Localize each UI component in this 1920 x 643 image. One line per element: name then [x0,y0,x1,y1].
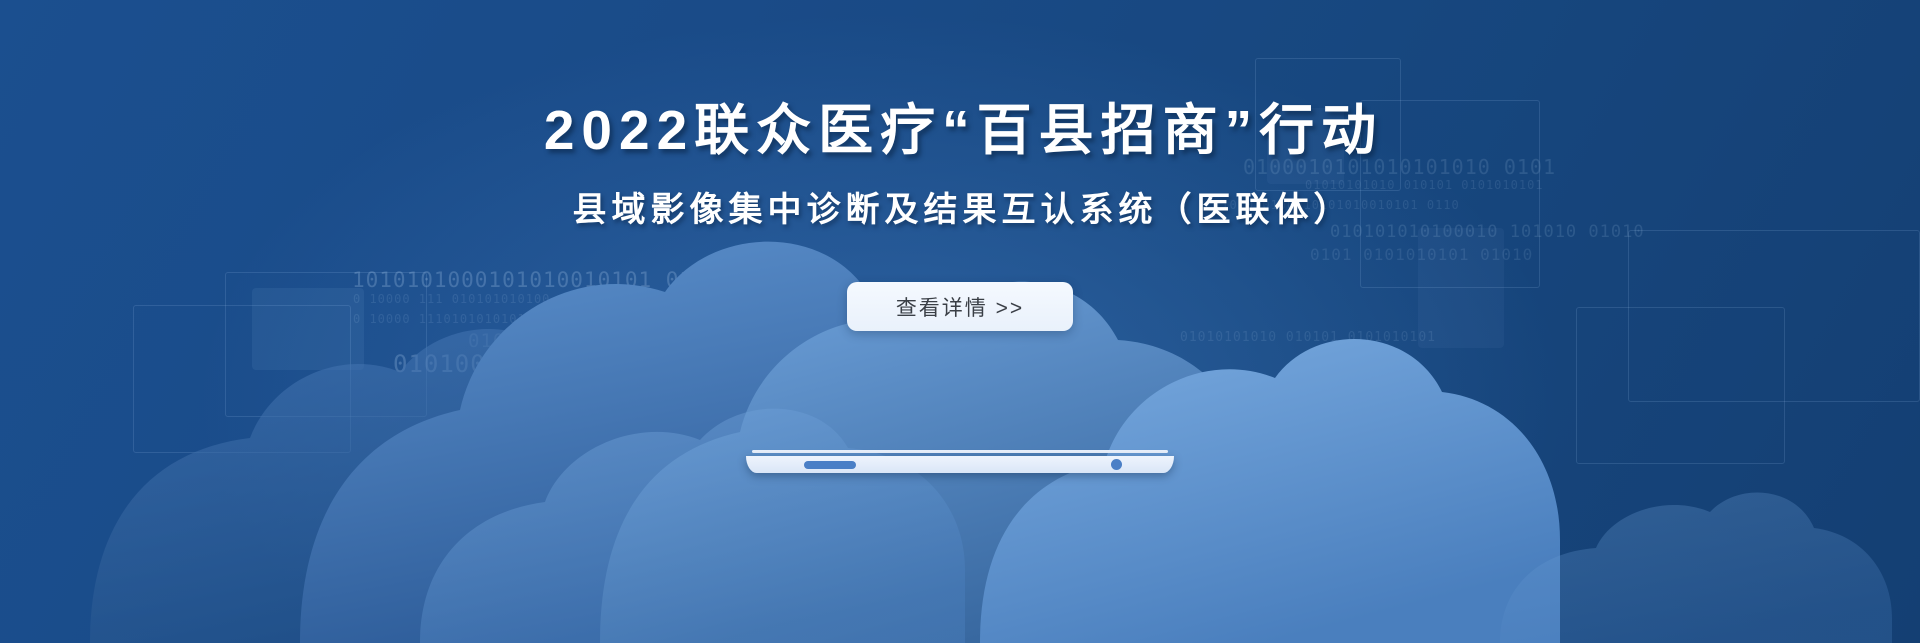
camera-dot-icon [1111,459,1122,470]
banner-subtitle: 县域影像集中诊断及结果互认系统（医联体） [568,193,1353,227]
speaker-slot-icon [804,461,856,469]
promo-banner: 1010101000101010010101 0110 0 10000 111 … [0,0,1920,643]
banner-title: 2022联众医疗“百县招商”行动 [537,103,1383,158]
view-details-button[interactable]: 查看详情 >> [847,282,1073,331]
banner-content: 2022联众医疗“百县招商”行动 县域影像集中诊断及结果互认系统（医联体） 查看… [0,0,1920,643]
tablet-device-edge [746,450,1174,475]
device-top-edge [752,450,1168,453]
